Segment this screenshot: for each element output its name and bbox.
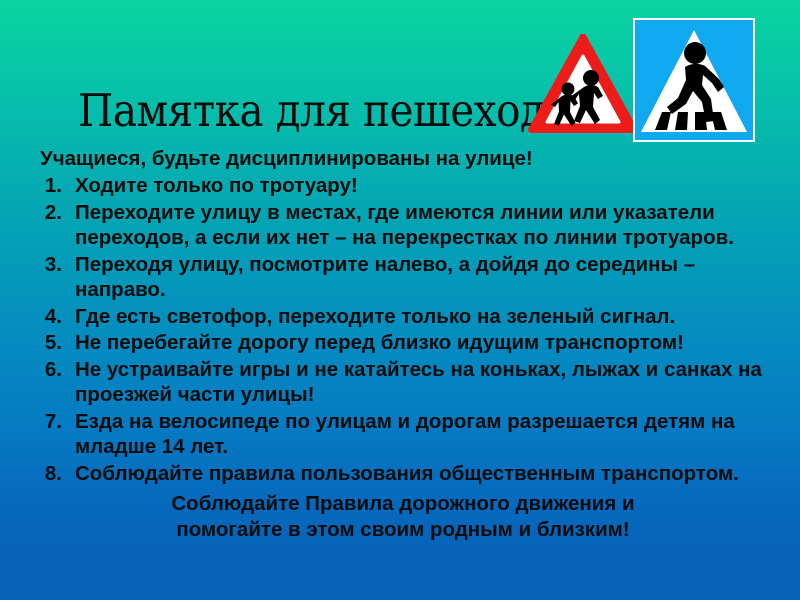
page-title: Памятка для пешеходов <box>78 86 591 136</box>
list-item-text: Переходите улицу в местах, где имеются л… <box>75 200 766 251</box>
list-item: 5. Не перебегайте дорогу перед близко ид… <box>40 330 766 356</box>
children-crossing-warning-sign <box>528 34 638 138</box>
list-item-number: 3. <box>40 252 62 278</box>
children-crossing-warning-icon <box>528 34 638 138</box>
closing-line-1: Соблюдайте Правила дорожного движения и <box>40 491 766 517</box>
pedestrian-crossing-sign <box>633 18 755 142</box>
slide: Памятка для пешеходов <box>0 0 800 600</box>
list-item: 6. Не устраивайте игры и не катайтесь на… <box>40 357 766 408</box>
list-item-number: 8. <box>40 461 62 487</box>
list-item-text: Переходя улицу, посмотрите налево, а дой… <box>75 252 766 303</box>
list-item-number: 5. <box>40 330 62 356</box>
closing-message: Соблюдайте Правила дорожного движения и … <box>40 491 766 543</box>
list-item-text: Езда на велосипеде по улицам и дорогам р… <box>75 409 766 460</box>
list-item: 2. Переходите улицу в местах, где имеютс… <box>40 200 766 251</box>
sign-blue-face <box>635 20 753 140</box>
list-item-text: Где есть светофор, переходите только на … <box>75 304 766 330</box>
list-item-number: 2. <box>40 200 62 226</box>
list-item: 4. Где есть светофор, переходите только … <box>40 304 766 330</box>
list-item-number: 6. <box>40 357 62 383</box>
list-item-number: 4. <box>40 304 62 330</box>
intro-text: Учащиеся, будьте дисциплинированы на ули… <box>40 147 533 171</box>
list-item-text: Ходите только по тротуару! <box>75 173 766 199</box>
road-signs-group <box>520 16 764 148</box>
closing-line-2: помогайте в этом своим родным и близким! <box>40 517 766 543</box>
list-item-text: Соблюдайте правила пользования обществен… <box>75 461 766 487</box>
list-item: 8. Соблюдайте правила пользования общест… <box>40 461 766 487</box>
list-item: 1. Ходите только по тротуару! <box>40 173 766 199</box>
list-item: 7. Езда на велосипеде по улицам и дорога… <box>40 409 766 460</box>
list-item-text: Не устраивайте игры и не катайтесь на ко… <box>75 357 766 408</box>
list-item-number: 7. <box>40 409 62 435</box>
list-item-text: Не перебегайте дорогу перед близко идущи… <box>75 330 766 356</box>
list-item-number: 1. <box>40 173 62 199</box>
rules-list: 1. Ходите только по тротуару! 2. Переход… <box>40 173 766 487</box>
list-item: 3. Переходя улицу, посмотрите налево, а … <box>40 252 766 303</box>
pedestrian-crossing-icon <box>635 20 753 140</box>
